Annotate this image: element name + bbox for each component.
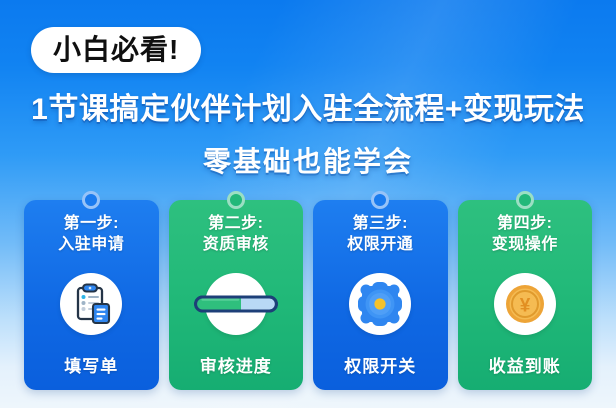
step-name-2: 资质审核 [203, 235, 269, 255]
step-footer-3: 权限开关 [344, 352, 416, 377]
progress-bar-icon [205, 273, 267, 335]
svg-text:¥: ¥ [519, 295, 530, 316]
page-title: 1节课搞定伙伴计划入驻全流程+变现玩法 [0, 92, 616, 128]
step-marker-dot-4 [516, 191, 534, 209]
highlight-badge-label: 小白必看! [53, 36, 179, 64]
step-marker-dot-1 [82, 191, 100, 209]
yuan-coin-icon: ¥ [494, 273, 556, 335]
step-footer-4: 收益到账 [489, 352, 561, 377]
step-icon-area-4: ¥ [458, 255, 593, 352]
gear-switch-icon [349, 273, 411, 335]
steps-row: 第一步: 入驻申请 [24, 200, 592, 390]
step-label-4: 第四步: [497, 214, 552, 234]
step-card-4[interactable]: 第四步: 变现操作 ¥ 收益到账 [458, 200, 593, 390]
step-icon-area-1 [24, 255, 159, 352]
step-footer-1: 填写单 [64, 352, 118, 377]
step-card-3[interactable]: 第三步: 权限开通 [313, 200, 448, 390]
step-card-2[interactable]: 第二步: 资质审核 审核进度 [169, 200, 304, 390]
clipboard-form-icon [60, 273, 122, 335]
highlight-badge: 小白必看! [31, 27, 201, 73]
step-marker-dot-3 [371, 191, 389, 209]
step-icon-area-2 [169, 255, 304, 352]
step-name-3: 权限开通 [347, 235, 413, 255]
step-name-1: 入驻申请 [58, 235, 124, 255]
page-subtitle: 零基础也能学会 [0, 145, 616, 179]
step-name-4: 变现操作 [492, 235, 558, 255]
step-label-2: 第二步: [208, 214, 263, 234]
step-icon-area-3 [313, 255, 448, 352]
promo-poster: 小白必看! 1节课搞定伙伴计划入驻全流程+变现玩法 零基础也能学会 第一步: 入… [0, 0, 616, 408]
step-marker-dot-2 [227, 191, 245, 209]
step-card-1[interactable]: 第一步: 入驻申请 [24, 200, 159, 390]
step-label-1: 第一步: [64, 214, 119, 234]
step-footer-2: 审核进度 [200, 352, 272, 377]
step-label-3: 第三步: [353, 214, 408, 234]
